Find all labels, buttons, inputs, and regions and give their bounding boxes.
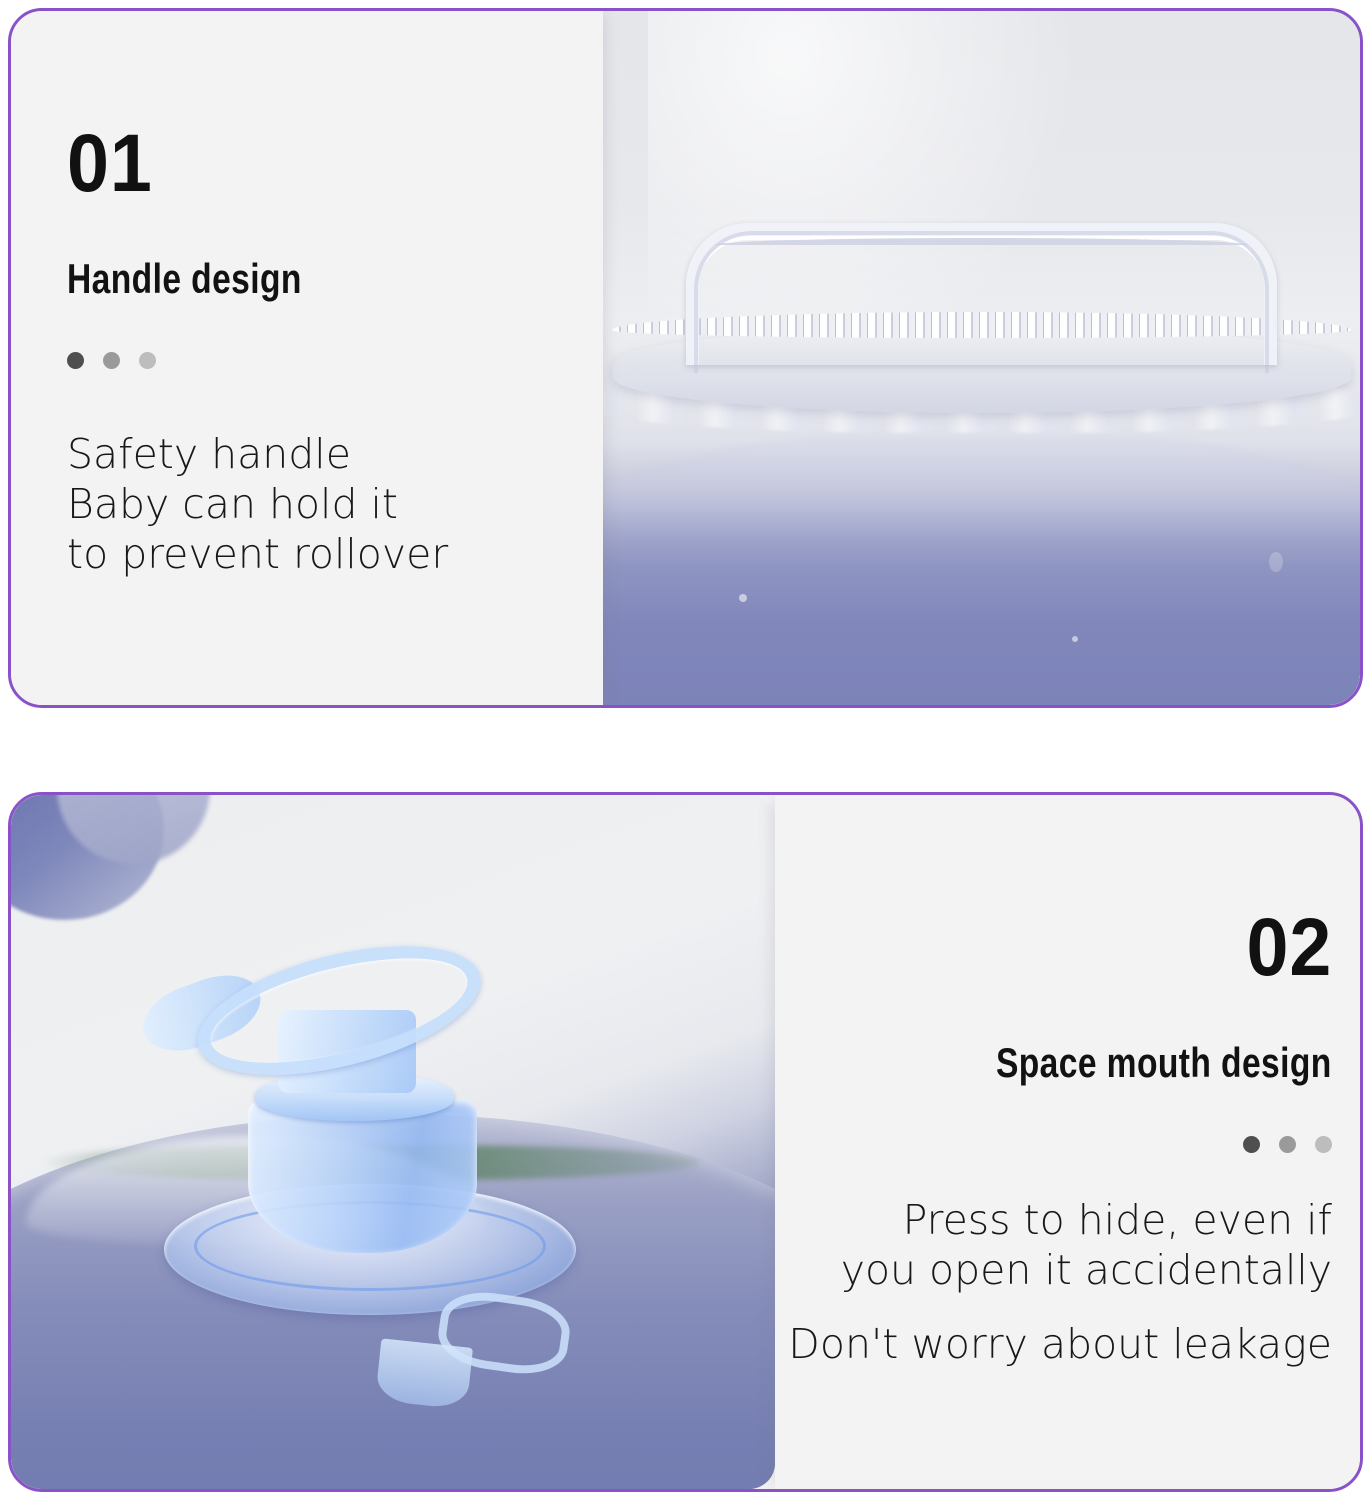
step-dots-02 — [1243, 1136, 1332, 1153]
speck — [1072, 636, 1078, 642]
feature-text-pane-01: 01 Handle design Safety handle Baby can … — [11, 11, 603, 705]
step-number-01: 01 — [67, 129, 153, 200]
feature-title-02: Space mouth design — [996, 1042, 1332, 1084]
step-dot-icon-1 — [1243, 1136, 1260, 1153]
feature-description-02-primary: Press to hide, even if you open it accid… — [841, 1195, 1332, 1295]
feature-card-02: 02 Space mouth design Press to hide, eve… — [8, 792, 1363, 1492]
feature-photo-spout — [11, 795, 775, 1489]
feature-description-01: Safety handle Baby can hold it to preven… — [67, 429, 448, 579]
feature-title-01: Handle design — [67, 258, 302, 300]
step-dots-01 — [67, 352, 156, 369]
feature-photo-handle — [603, 11, 1360, 705]
step-dot-icon-3 — [139, 352, 156, 369]
step-dot-icon-2 — [103, 352, 120, 369]
feature-description-02-secondary: Don't worry about leakage — [788, 1319, 1332, 1369]
feature-card-01: 01 Handle design Safety handle Baby can … — [8, 8, 1363, 708]
step-dot-icon-3 — [1315, 1136, 1332, 1153]
step-number-02: 02 — [1246, 913, 1332, 984]
step-dot-icon-1 — [67, 352, 84, 369]
feature-text-pane-02: 02 Space mouth design Press to hide, eve… — [775, 795, 1360, 1489]
carry-handle-inner-edge — [694, 231, 1268, 373]
spout-cone — [248, 1100, 477, 1253]
step-dot-icon-2 — [1279, 1136, 1296, 1153]
product-feature-infographic: 01 Handle design Safety handle Baby can … — [0, 0, 1371, 1500]
